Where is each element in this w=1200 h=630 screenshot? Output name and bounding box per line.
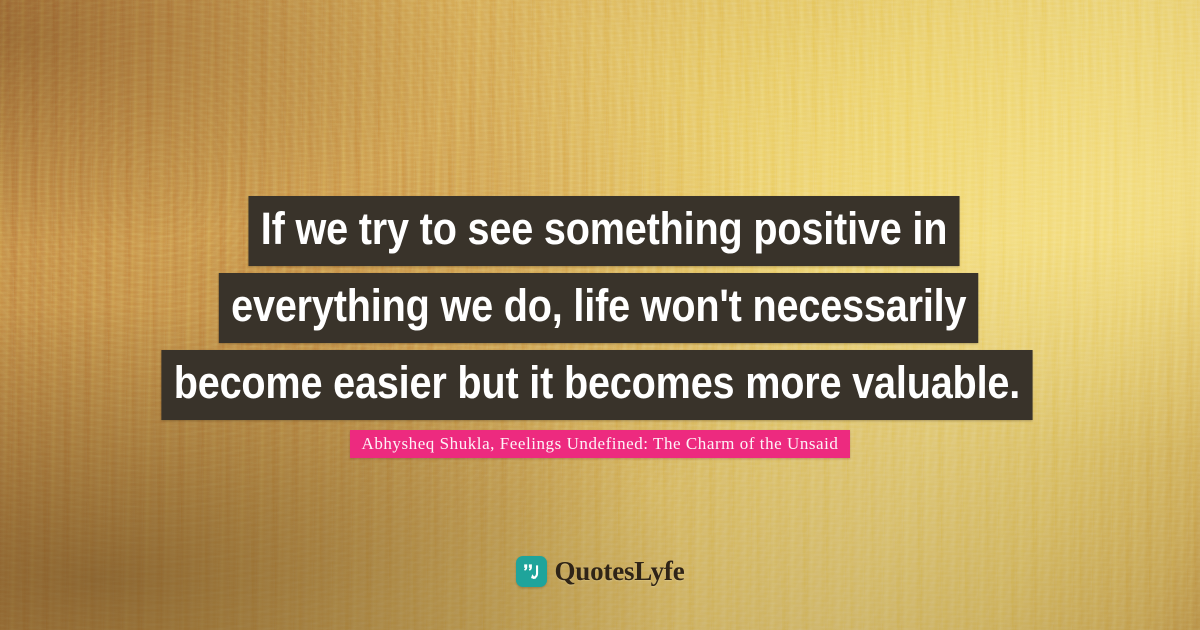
quote-line-3: become easier but it becomes more valuab… bbox=[161, 350, 1032, 420]
quote-line-row: everything we do, life won't necessarily bbox=[0, 273, 1200, 350]
quote-text: If we try to see something positive in e… bbox=[0, 196, 1200, 420]
quote-line-1: If we try to see something positive in bbox=[248, 196, 959, 266]
brand-logo[interactable]: QuotesLyfe bbox=[0, 556, 1200, 587]
quote-line-row: If we try to see something positive in bbox=[8, 196, 1200, 273]
quote-mark-icon bbox=[516, 556, 547, 587]
brand-name: QuotesLyfe bbox=[555, 556, 685, 587]
quote-line-2: everything we do, life won't necessarily bbox=[219, 273, 979, 343]
quote-line-row: become easier but it becomes more valuab… bbox=[0, 350, 1200, 420]
attribution-row: Abhysheq Shukla, Feelings Undefined: The… bbox=[0, 430, 1200, 458]
attribution-text: Abhysheq Shukla, Feelings Undefined: The… bbox=[350, 430, 851, 458]
quote-graphic: If we try to see something positive in e… bbox=[0, 0, 1200, 630]
